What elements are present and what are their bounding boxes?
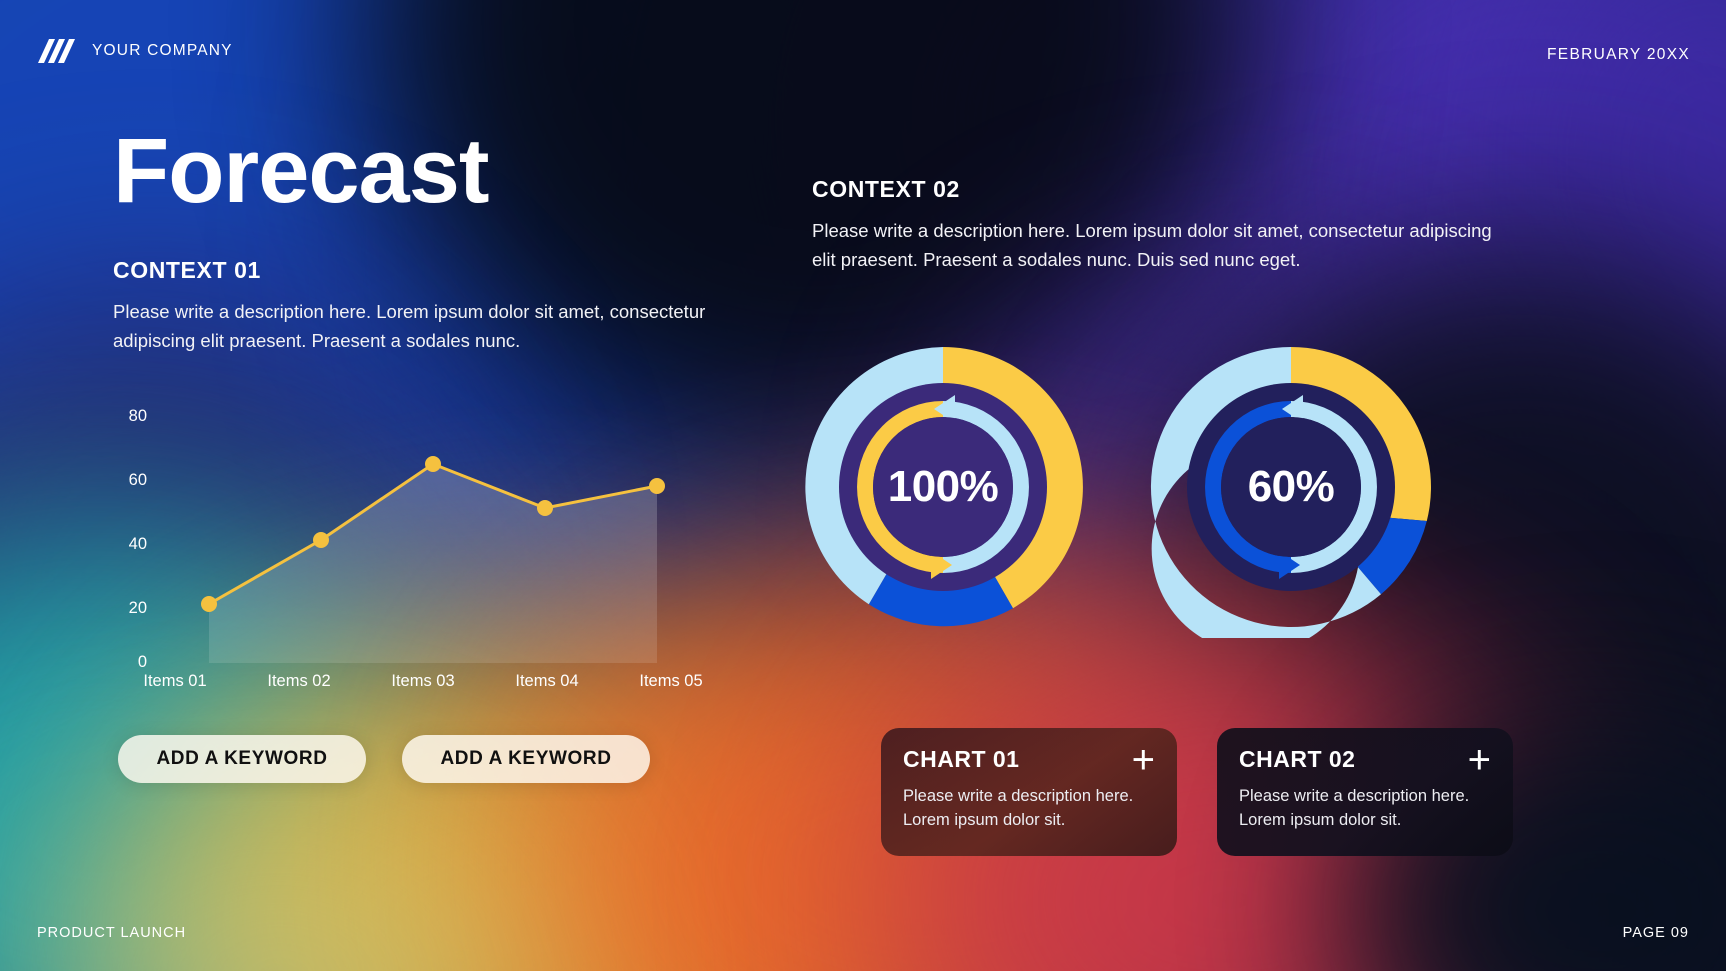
x-tick-3: Items 03	[361, 672, 485, 691]
y-tick-20: 20	[113, 599, 147, 618]
y-tick-0: 0	[113, 653, 147, 672]
data-point	[649, 478, 665, 494]
company-name: YOUR COMPANY	[92, 42, 233, 60]
footer-left: PRODUCT LAUNCH	[37, 925, 186, 941]
right-column: CONTEXT 02 Please write a description he…	[812, 176, 1492, 274]
chart-card-2-title: CHART 02	[1239, 746, 1355, 773]
plus-icon[interactable]: +	[1468, 747, 1491, 773]
add-keyword-button-2[interactable]: ADD A KEYWORD	[402, 735, 650, 783]
slide-root: YOUR COMPANY FEBRUARY 20XX Forecast CONT…	[0, 0, 1726, 971]
page-title: Forecast	[113, 128, 773, 215]
x-tick-5: Items 05	[609, 672, 733, 691]
data-point	[201, 596, 217, 612]
donut-chart-row: 100% 60%	[800, 336, 1500, 646]
y-tick-60: 60	[113, 471, 147, 490]
keyword-button-row: ADD A KEYWORD ADD A KEYWORD	[118, 735, 650, 783]
y-tick-80: 80	[113, 407, 147, 426]
donut-center-label-1: 100%	[800, 462, 1086, 512]
data-point	[313, 532, 329, 548]
context-01-heading: CONTEXT 01	[113, 257, 773, 284]
left-column: Forecast CONTEXT 01 Please write a descr…	[113, 128, 773, 356]
donut-center-label-2: 60%	[1148, 462, 1434, 512]
chart-card-1-body: Please write a description here. Lorem i…	[903, 785, 1155, 833]
context-02-body: Please write a description here. Lorem i…	[812, 217, 1492, 274]
data-point	[425, 456, 441, 472]
chart-card-1-title: CHART 01	[903, 746, 1019, 773]
chart-card-row: CHART 01 + Please write a description he…	[881, 728, 1513, 856]
x-tick-1: Items 01	[113, 672, 237, 691]
donut-chart-60: 60%	[1148, 336, 1434, 638]
add-keyword-button-1[interactable]: ADD A KEYWORD	[118, 735, 366, 783]
area-fill	[209, 464, 657, 663]
x-axis-labels: Items 01 Items 02 Items 03 Items 04 Item…	[113, 672, 733, 691]
x-tick-4: Items 04	[485, 672, 609, 691]
chart-card-2[interactable]: CHART 02 + Please write a description he…	[1217, 728, 1513, 856]
area-chart-svg	[113, 395, 733, 675]
x-tick-2: Items 02	[237, 672, 361, 691]
chart-card-1[interactable]: CHART 01 + Please write a description he…	[881, 728, 1177, 856]
chart-card-2-body: Please write a description here. Lorem i…	[1239, 785, 1491, 833]
forecast-area-chart: 80 60 40 20 0	[113, 395, 733, 705]
footer-right: PAGE 09	[1623, 925, 1689, 941]
brand-header: YOUR COMPANY	[36, 38, 233, 64]
context-02-heading: CONTEXT 02	[812, 176, 1492, 203]
donut-chart-100: 100%	[800, 336, 1086, 638]
context-01-body: Please write a description here. Lorem i…	[113, 298, 773, 355]
data-point	[537, 500, 553, 516]
slide-date: FEBRUARY 20XX	[1547, 46, 1690, 64]
y-tick-40: 40	[113, 535, 147, 554]
company-monogram-icon	[36, 38, 78, 64]
plus-icon[interactable]: +	[1132, 747, 1155, 773]
